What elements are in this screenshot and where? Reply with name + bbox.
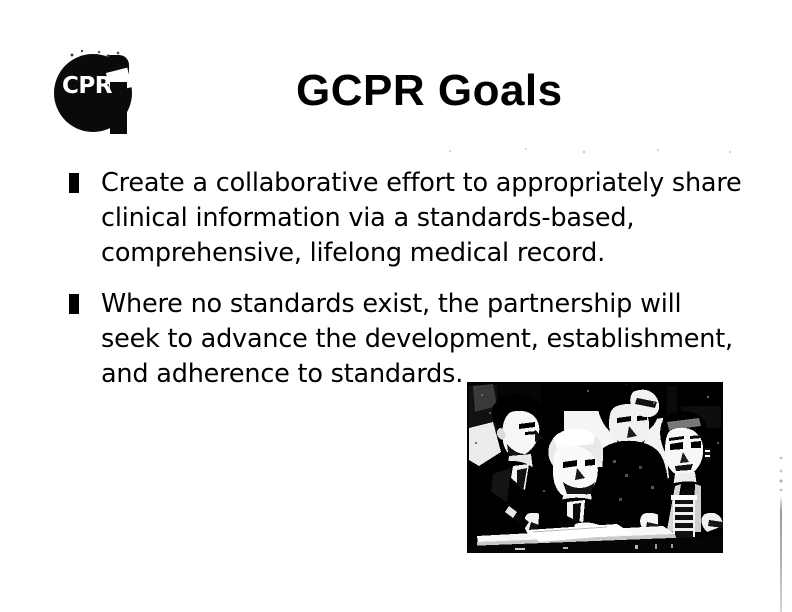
scan-speckle-artifact: [430, 146, 760, 156]
scan-dot-artifact: [777, 455, 785, 501]
list-item: Where no standards exist, the partnershi…: [68, 287, 758, 392]
scan-line-artifact: [780, 498, 782, 612]
slide-canvas: CPR GCPR Goals Create a collaborative ef…: [0, 0, 792, 612]
logo-text: CPR: [62, 75, 134, 98]
square-bullet-icon: [69, 173, 79, 193]
list-item-text: Where no standards exist, the partnershi…: [101, 287, 758, 392]
meeting-photograph: [467, 382, 723, 553]
list-item-text: Create a collaborative effort to appropr…: [101, 166, 758, 271]
bullet-list: Create a collaborative effort to appropr…: [68, 166, 758, 408]
gcpr-logo: CPR: [52, 50, 144, 142]
list-item: Create a collaborative effort to appropr…: [68, 166, 758, 271]
page-title: GCPR Goals: [296, 66, 563, 116]
square-bullet-icon: [69, 294, 79, 314]
